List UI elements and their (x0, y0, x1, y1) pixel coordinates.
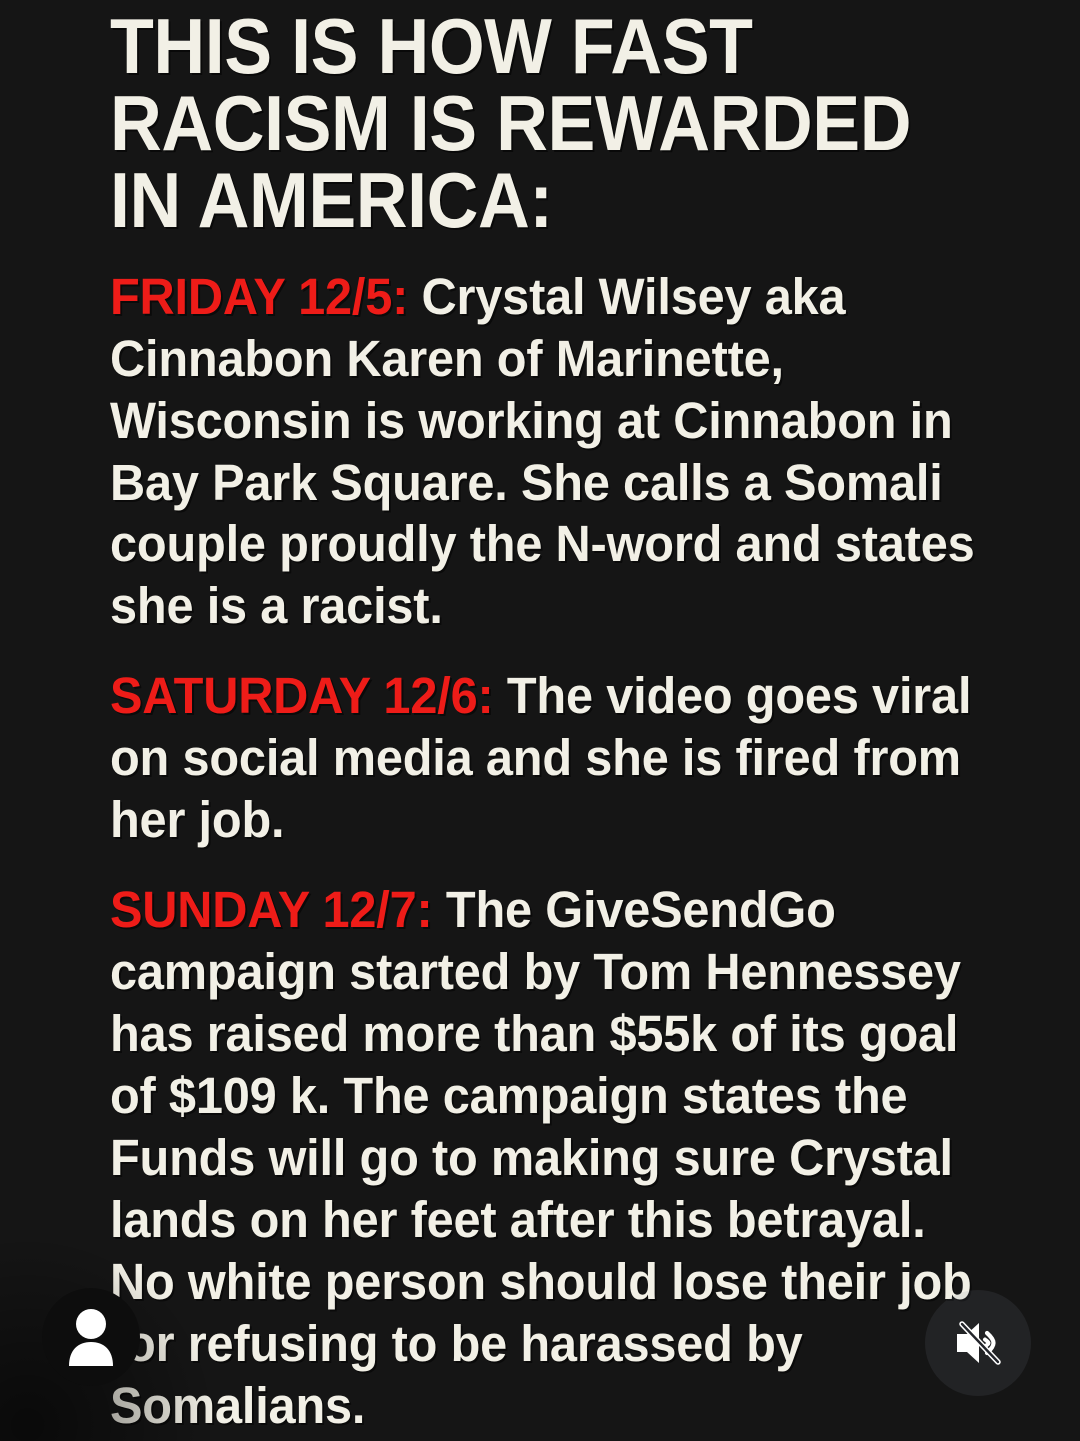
timeline-entry-friday: FRIDAY 12/5: Crystal Wilsey aka Cinnabon… (110, 266, 989, 638)
timeline-entry-sunday: SUNDAY 12/7: The GiveSendGo campaign sta… (110, 879, 989, 1437)
entry-body-sunday: The GiveSendGo campaign started by Tom H… (110, 881, 972, 1434)
day-label-sunday: SUNDAY 12/7: (110, 881, 433, 938)
day-label-friday: FRIDAY 12/5: (110, 268, 408, 325)
day-label-saturday: SATURDAY 12/6: (110, 667, 494, 724)
timeline-entry-saturday: SATURDAY 12/6: The video goes viral on s… (110, 665, 989, 851)
mute-button[interactable] (925, 1290, 1031, 1396)
page-title: THIS IS HOW FAST RACISM IS REWARDED IN A… (110, 8, 956, 240)
post-content: THIS IS HOW FAST RACISM IS REWARDED IN A… (110, 8, 1030, 1437)
avatar[interactable] (42, 1288, 140, 1386)
volume-muted-icon (948, 1313, 1008, 1373)
person-icon (63, 1308, 119, 1366)
story-screen: THIS IS HOW FAST RACISM IS REWARDED IN A… (0, 0, 1080, 1441)
